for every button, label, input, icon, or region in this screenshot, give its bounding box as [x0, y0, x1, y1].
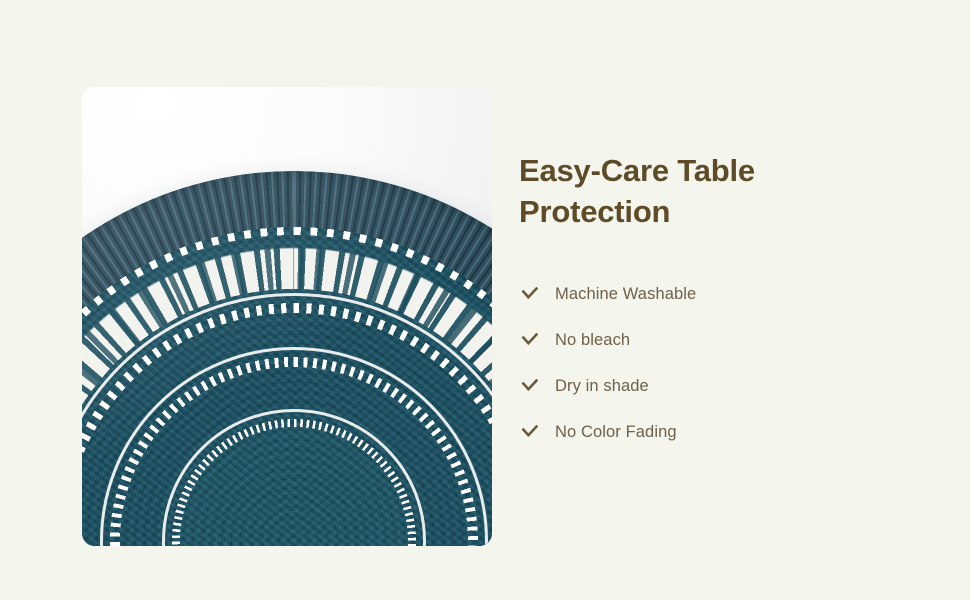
check-icon: [519, 375, 541, 397]
list-item: Machine Washable: [519, 283, 919, 305]
feature-list: Machine Washable No bleach Dry in shade: [519, 283, 919, 443]
list-item: No Color Fading: [519, 421, 919, 443]
product-image: [82, 87, 492, 546]
feature-label: Machine Washable: [555, 283, 696, 305]
page-title: Easy-Care Table Protection: [519, 150, 779, 232]
feature-label: Dry in shade: [555, 375, 649, 397]
list-item: Dry in shade: [519, 375, 919, 397]
woven-placemat: [82, 171, 492, 546]
feature-label: No bleach: [555, 329, 630, 351]
check-icon: [519, 283, 541, 305]
promo-banner: Easy-Care Table Protection Machine Washa…: [0, 0, 970, 600]
feature-label: No Color Fading: [555, 421, 677, 443]
check-icon: [519, 329, 541, 351]
check-icon: [519, 421, 541, 443]
list-item: No bleach: [519, 329, 919, 351]
content-column: Easy-Care Table Protection Machine Washa…: [519, 150, 919, 443]
